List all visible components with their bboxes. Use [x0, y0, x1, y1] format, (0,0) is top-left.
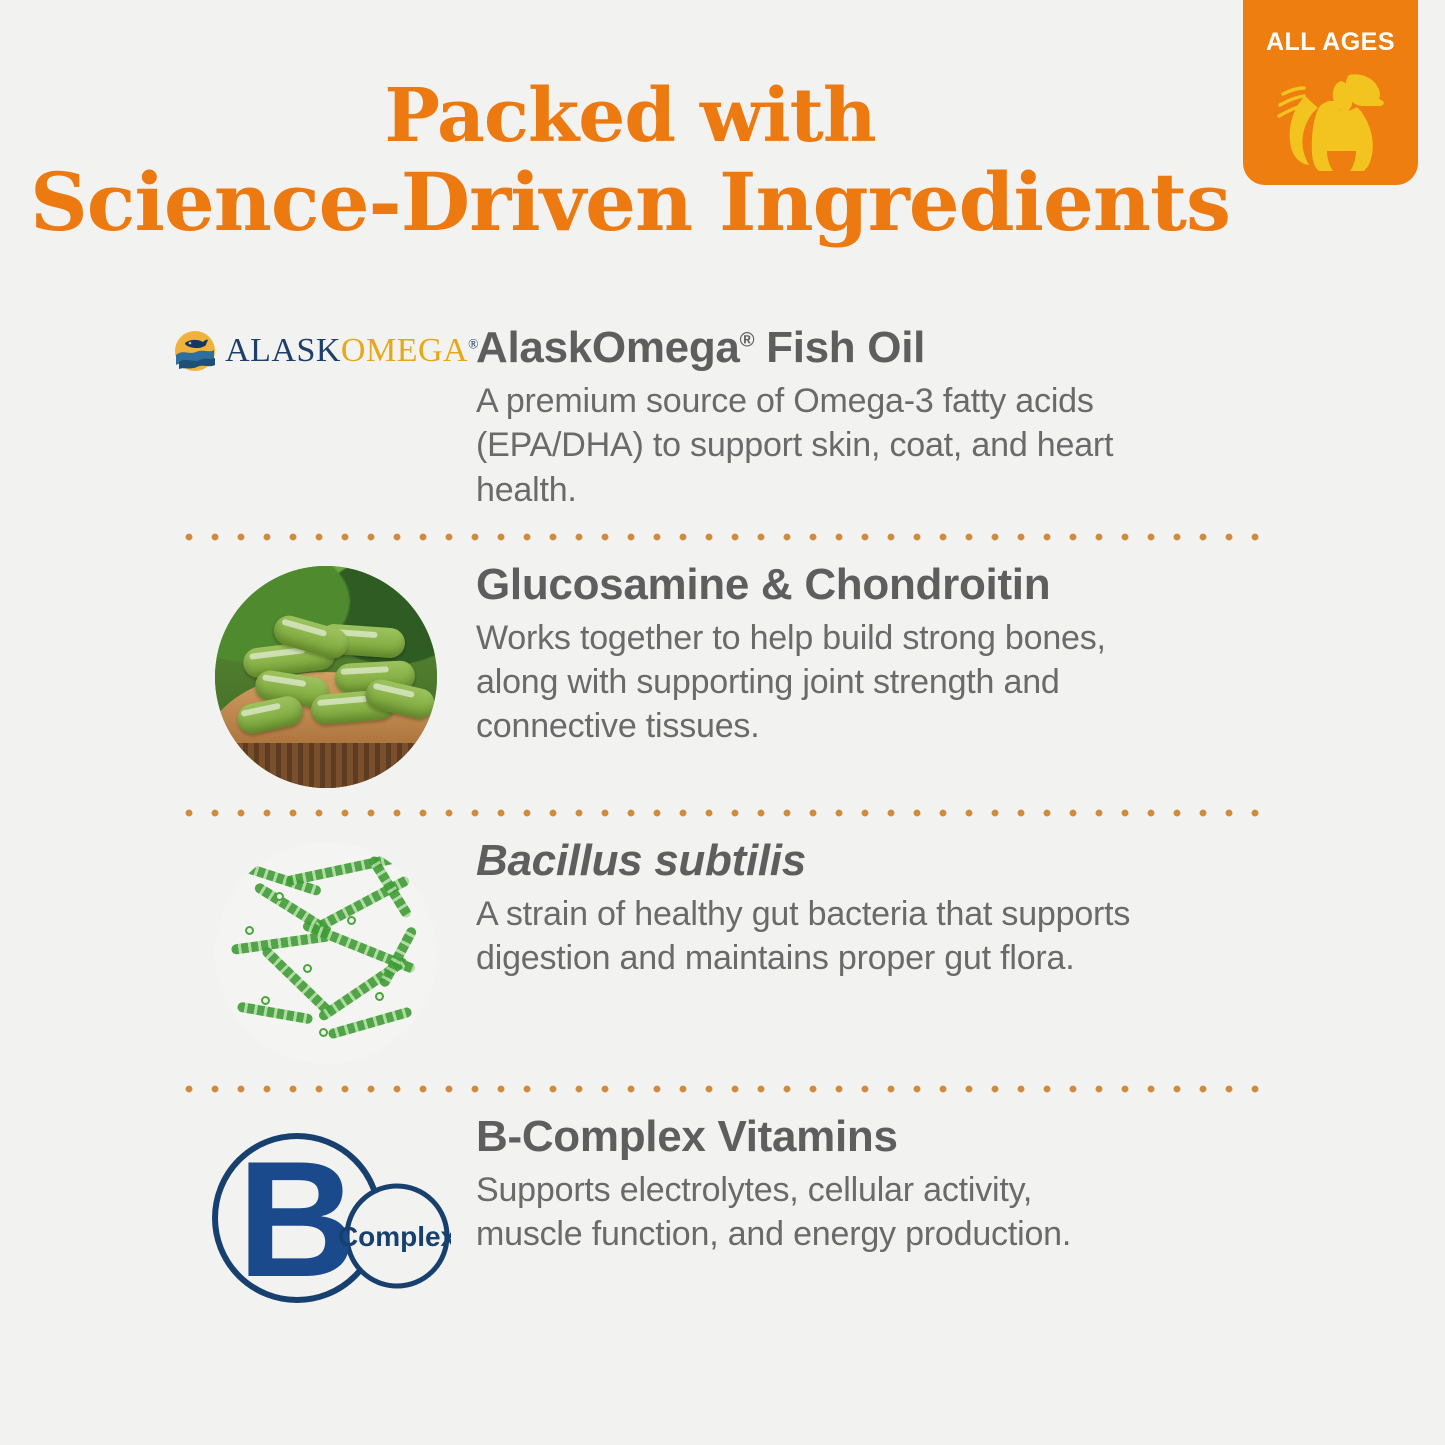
ingredient-item-glucosamine: Glucosamine & Chondroitin Works together… — [0, 562, 1445, 788]
ingredient-item-bcomplex: B Complex B-Complex Vitamins Supports el… — [0, 1114, 1445, 1318]
ingredient-title-bcomplex: B-Complex Vitamins — [476, 1114, 1265, 1160]
media-bacillus — [176, 838, 476, 1064]
ingredient-title-tail: Fish Oil — [754, 323, 925, 372]
svg-text:B: B — [237, 1127, 356, 1311]
all-ages-label: ALL AGES — [1266, 30, 1395, 55]
divider-1 — [176, 532, 1259, 542]
ingredient-description-bacillus: A strain of healthy gut bacteria that su… — [476, 892, 1146, 980]
svg-text:Complex: Complex — [338, 1221, 451, 1252]
title-line-1: Packed with — [0, 80, 1260, 153]
b-complex-logo: B Complex — [201, 1118, 451, 1318]
all-ages-badge: ALL AGES — [1243, 0, 1418, 185]
ingredient-description-bcomplex: Supports electrolytes, cellular activity… — [476, 1168, 1146, 1256]
body-alaskomega: AlaskOmega® Fish Oil A premium source of… — [476, 325, 1445, 512]
ingredient-title-text: AlaskOmega — [476, 323, 740, 372]
ingredient-description-alaskomega: A premium source of Omega-3 fatty acids … — [476, 379, 1146, 512]
alaskomega-part1: ALASK — [225, 332, 341, 369]
fish-wave-sun-icon — [173, 329, 217, 373]
infographic-page: ALL AGES — [0, 0, 1445, 1445]
page-title: Packed with Science-Driven Ingredients — [0, 80, 1260, 241]
body-bcomplex: B-Complex Vitamins Supports electrolytes… — [476, 1114, 1445, 1257]
title-line-2: Science-Driven Ingredients — [0, 163, 1260, 241]
media-bcomplex: B Complex — [176, 1114, 476, 1318]
body-glucosamine: Glucosamine & Chondroitin Works together… — [476, 562, 1445, 749]
media-glucosamine — [176, 562, 476, 788]
ingredient-title-bacillus: Bacillus subtilis — [476, 838, 1265, 884]
ingredient-list: ALASKOMEGA® AlaskOmega® Fish Oil A premi… — [0, 325, 1445, 1318]
ingredient-item-alaskomega: ALASKOMEGA® AlaskOmega® Fish Oil A premi… — [0, 325, 1445, 512]
alaskomega-wordmark: ALASKOMEGA® — [225, 332, 479, 370]
bacteria-microscopy-photo — [215, 842, 437, 1064]
body-bacillus: Bacillus subtilis A strain of healthy gu… — [476, 838, 1445, 981]
dog-silhouette-icon — [1271, 61, 1391, 184]
ingredient-title-alaskomega: AlaskOmega® Fish Oil — [476, 325, 1265, 371]
green-capsules-photo — [215, 566, 437, 788]
alaskomega-part2: OMEGA — [341, 332, 468, 369]
media-alaskomega: ALASKOMEGA® — [176, 325, 476, 373]
alaskomega-logo: ALASKOMEGA® — [173, 329, 479, 373]
divider-2 — [176, 808, 1259, 818]
ingredient-title-glucosamine: Glucosamine & Chondroitin — [476, 562, 1265, 608]
ingredient-item-bacillus: Bacillus subtilis A strain of healthy gu… — [0, 838, 1445, 1064]
ingredient-description-glucosamine: Works together to help build strong bone… — [476, 616, 1146, 749]
registered-mark: ® — [740, 329, 755, 351]
divider-3 — [176, 1084, 1259, 1094]
